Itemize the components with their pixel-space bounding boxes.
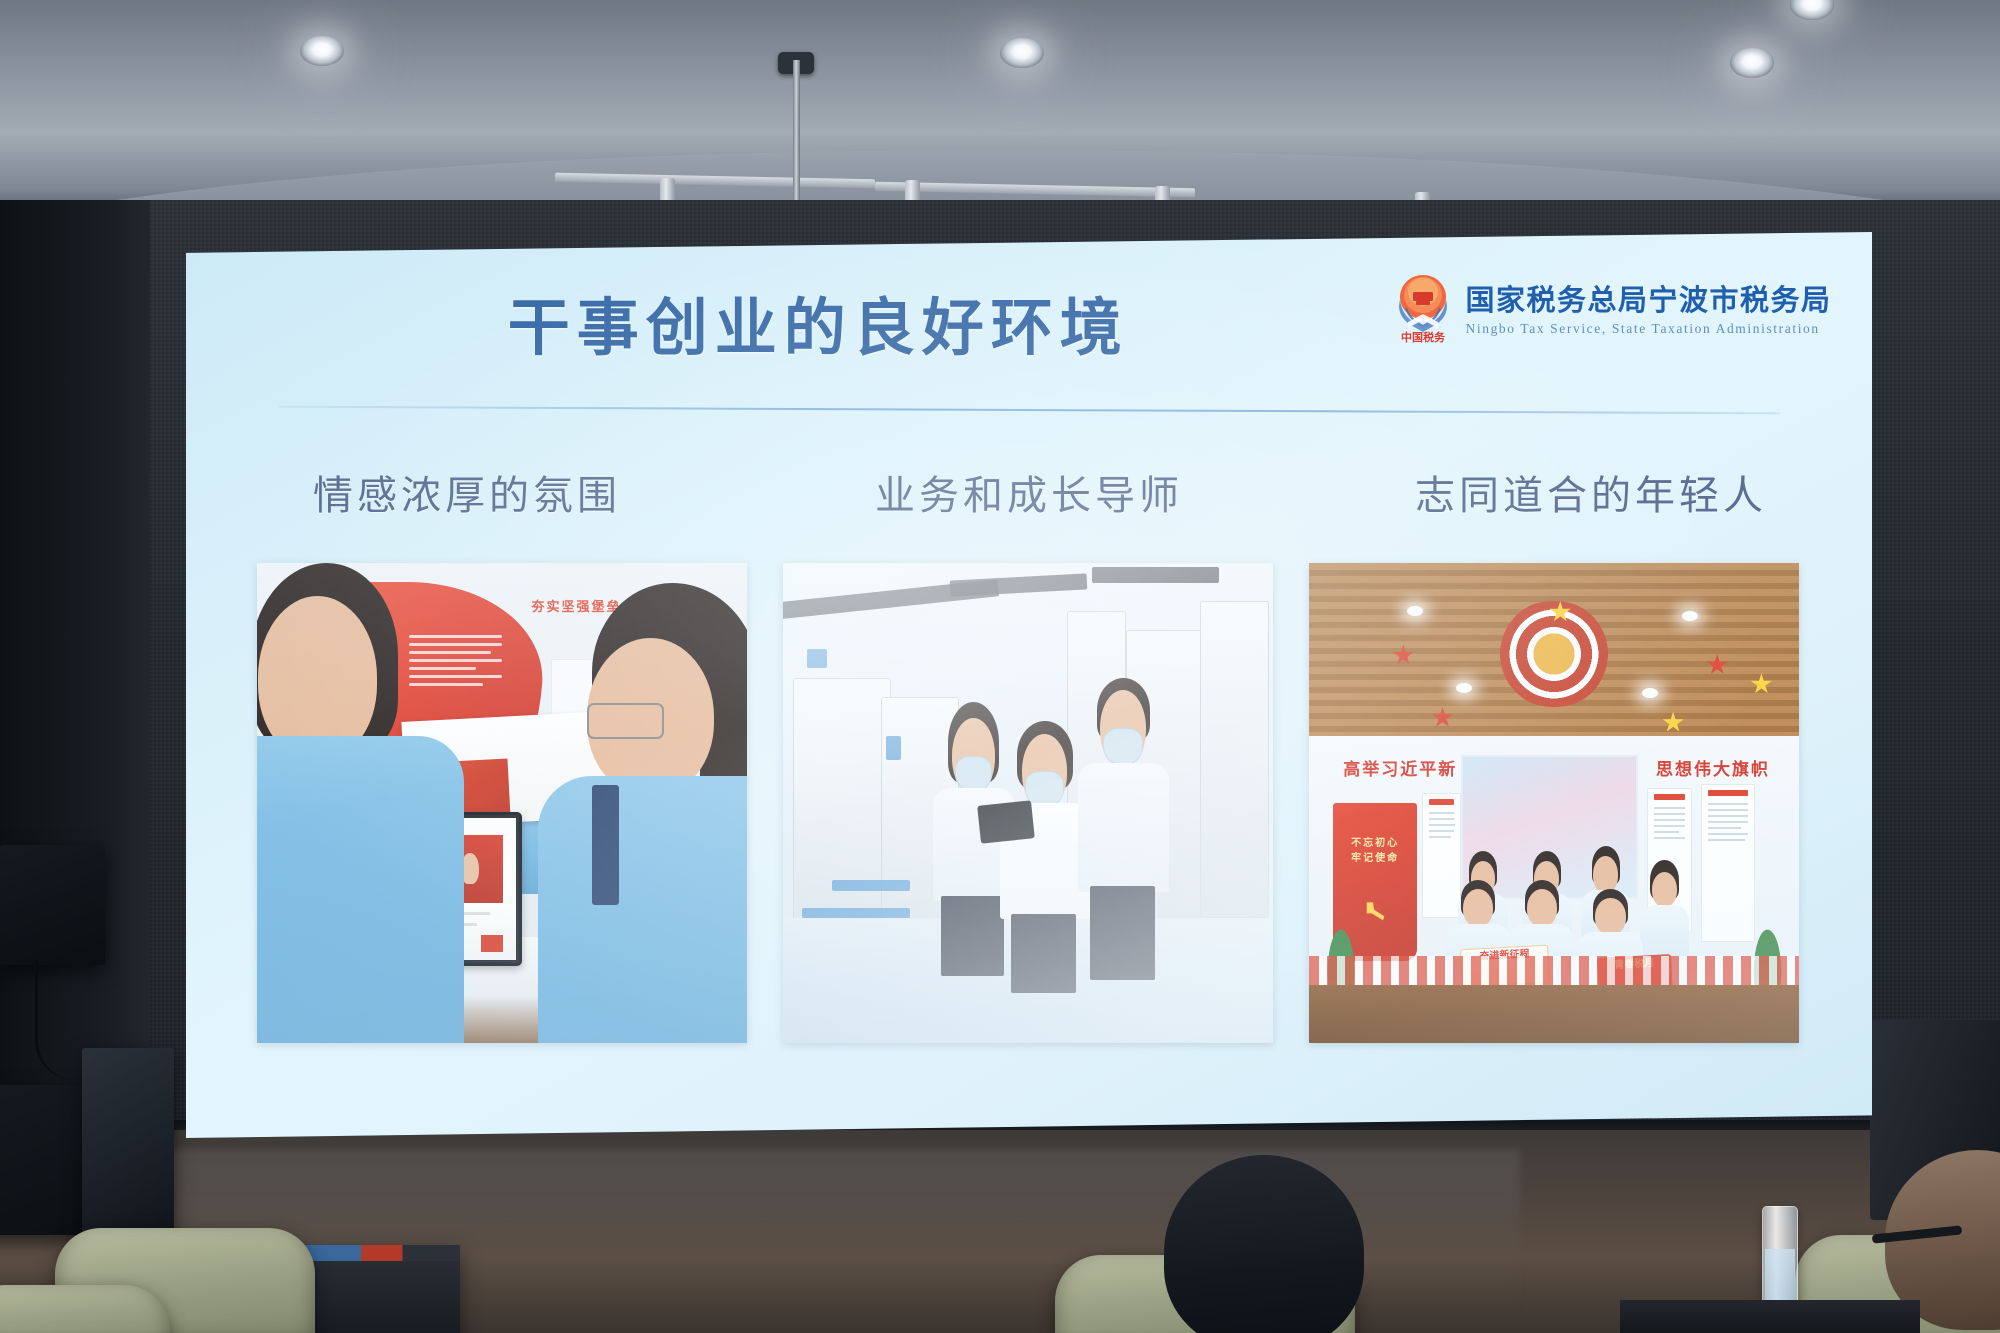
slide-title: 干事创业的良好环境 — [296, 277, 1341, 367]
photo-row: 夯实坚强堡垒 凝心聚力前行 信 仰 之 光 — [257, 563, 1800, 1043]
ceiling-downlight — [300, 36, 344, 66]
audience-table — [1620, 1300, 1920, 1333]
column-caption-1: 情感浓厚的氛围 — [186, 463, 748, 521]
ceiling-downlight — [1730, 48, 1774, 78]
photo-factory-visit — [783, 563, 1274, 1043]
ceiling-spot — [1407, 606, 1423, 616]
slide-canvas: 干事创业的良好环境 — [186, 232, 1872, 1138]
photo-young-team-party-room: 高举习近平新 思想伟大旗帜 不忘初心 牢记使命 — [1309, 563, 1800, 1043]
brand-lockup: 中国税务 国家税务总局宁波市税务局 Ningbo Tax Service, St… — [1392, 270, 1832, 344]
photo1-officer-foreground-right — [551, 601, 747, 1043]
projection-screen: 干事创业的良好环境 — [186, 232, 1872, 1138]
ceiling-spot — [1642, 688, 1658, 698]
brand-name-en: Ningbo Tax Service, State Taxation Admin… — [1466, 321, 1832, 337]
photo1-officer-foreground-left — [257, 572, 443, 1043]
caption-row: 情感浓厚的氛围 业务和成长导师 志同道合的年轻人 — [186, 463, 1872, 521]
column-caption-3: 志同道合的年轻人 — [1310, 463, 1872, 521]
ceiling-downlight — [1000, 38, 1044, 68]
podium — [300, 1245, 460, 1333]
ceiling-spot — [1456, 683, 1472, 693]
photo-party-study-office: 夯实坚强堡垒 凝心聚力前行 信 仰 之 光 — [257, 563, 748, 1043]
equipment-cable — [35, 960, 75, 1080]
floor-equipment-left-2 — [82, 1048, 174, 1238]
svg-text:中国税务: 中国税务 — [1401, 330, 1446, 344]
party-emblem-ceiling-icon — [1495, 601, 1613, 707]
photo3-banner-left: 高举习近平新 — [1343, 755, 1457, 780]
audience-chair — [0, 1285, 170, 1333]
china-tax-emblem-icon: 中国税务 — [1392, 270, 1454, 344]
wall-equipment-top — [0, 845, 105, 965]
conference-room: 干事创业的良好环境 — [0, 0, 2000, 1333]
photo3-banner-right: 思想伟大旗帜 — [1656, 755, 1770, 780]
brand-name-cn: 国家税务总局宁波市税务局 — [1466, 277, 1832, 319]
column-caption-2: 业务和成长导师 — [748, 463, 1310, 521]
ceiling-spot — [1682, 611, 1698, 621]
title-divider — [279, 405, 1780, 414]
